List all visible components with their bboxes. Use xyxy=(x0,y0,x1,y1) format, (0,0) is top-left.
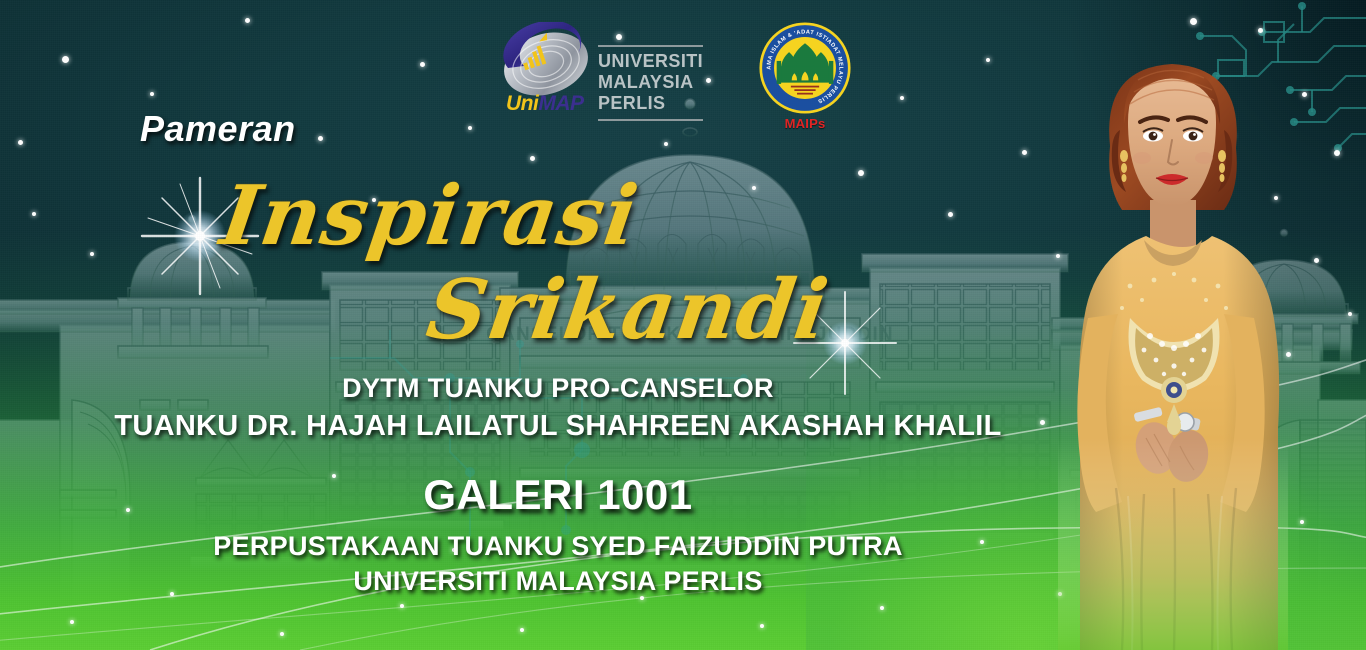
gallery-name-text: GALERI 1001 xyxy=(0,471,1116,519)
unimap-wordmark-uni: Uni xyxy=(506,92,538,115)
event-details-block: DYTM TUANKU PRO-CANSELOR TUANKU DR. HAJA… xyxy=(0,370,1366,598)
venue-line-1: PERPUSTAKAAN TUANKU SYED FAIZUDDIN PUTRA xyxy=(0,529,1116,564)
maips-emblem-icon: MAJLIS AGAMA ISLAM & 'ADAT ISTIADAT MELA… xyxy=(759,22,851,114)
unimap-logo: UniMAP UNIVERSITI MALAYSIA PERLIS xyxy=(500,22,703,121)
venue-line-2: UNIVERSITI MALAYSIA PERLIS xyxy=(0,564,1116,599)
eyebrow-text: Pameran xyxy=(140,108,296,150)
unimap-name-line2: MALAYSIA xyxy=(598,72,703,93)
title-line-srikandi: Srikandi xyxy=(421,262,834,358)
event-banner: CANSELOR TUANKU SYED SIRAJUDDIN xyxy=(0,0,1366,650)
unimap-wordmark: UniMAP xyxy=(506,93,584,114)
logo-row: UniMAP UNIVERSITI MALAYSIA PERLIS xyxy=(500,22,851,131)
unimap-name-line1: UNIVERSITI xyxy=(598,51,703,72)
honorific-text: DYTM TUANKU PRO-CANSELOR xyxy=(0,370,1116,406)
maips-logo: MAJLIS AGAMA ISLAM & 'ADAT ISTIADAT MELA… xyxy=(759,22,851,131)
unimap-rule-top xyxy=(598,45,703,47)
unimap-mark-icon: UniMAP xyxy=(500,22,592,114)
unimap-name-text: UNIVERSITI MALAYSIA PERLIS xyxy=(598,22,703,121)
unimap-rule-bottom xyxy=(598,119,703,121)
maips-label: MAIPs xyxy=(785,116,826,131)
person-name-text: TUANKU DR. HAJAH LAILATUL SHAHREEN AKASH… xyxy=(0,406,1116,447)
title-line-inspirasi: Inspirasi xyxy=(215,168,644,264)
unimap-wordmark-map: MAP xyxy=(538,92,583,115)
unimap-name-line3: PERLIS xyxy=(598,93,703,114)
